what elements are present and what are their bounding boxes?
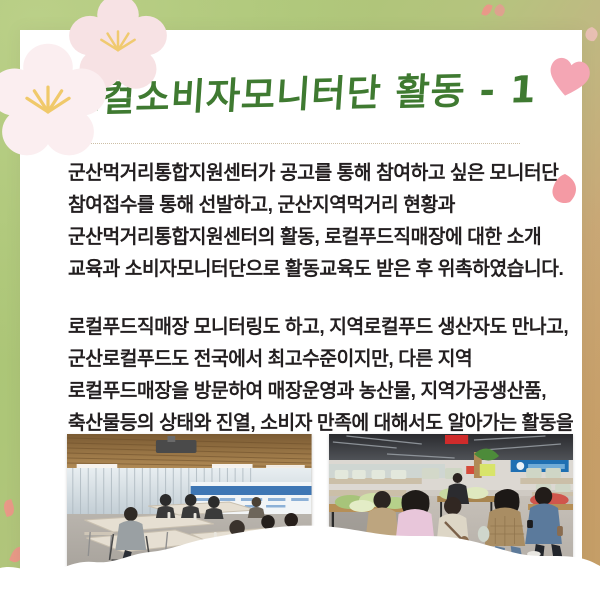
paragraph-1: 군산먹거리통합지원센터가 공고를 통해 참여하고 싶은 모니터단 참여접수를 통… xyxy=(68,158,576,286)
cherry-blossom-lower xyxy=(0,40,110,164)
title-divider xyxy=(82,143,520,144)
photo-local-food-store-image xyxy=(329,434,574,573)
heart-icon xyxy=(547,56,591,98)
petal-accent-edge xyxy=(584,26,600,42)
photo-row xyxy=(67,434,573,573)
infographic-card: 로컬소비자모니터단 활동 - 1 군산먹거리통합지원센터가 공고를 통해 참여하… xyxy=(0,0,600,600)
petal-accent-top xyxy=(493,3,507,17)
body-text-block: 군산먹거리통합지원센터가 공고를 통해 참여하고 싶은 모니터단 참여접수를 통… xyxy=(68,158,576,472)
photo-local-food-store xyxy=(329,434,574,573)
photo-meeting-room-image xyxy=(67,434,312,573)
photo-meeting-room xyxy=(67,434,312,573)
petal-accent-right xyxy=(550,172,580,206)
